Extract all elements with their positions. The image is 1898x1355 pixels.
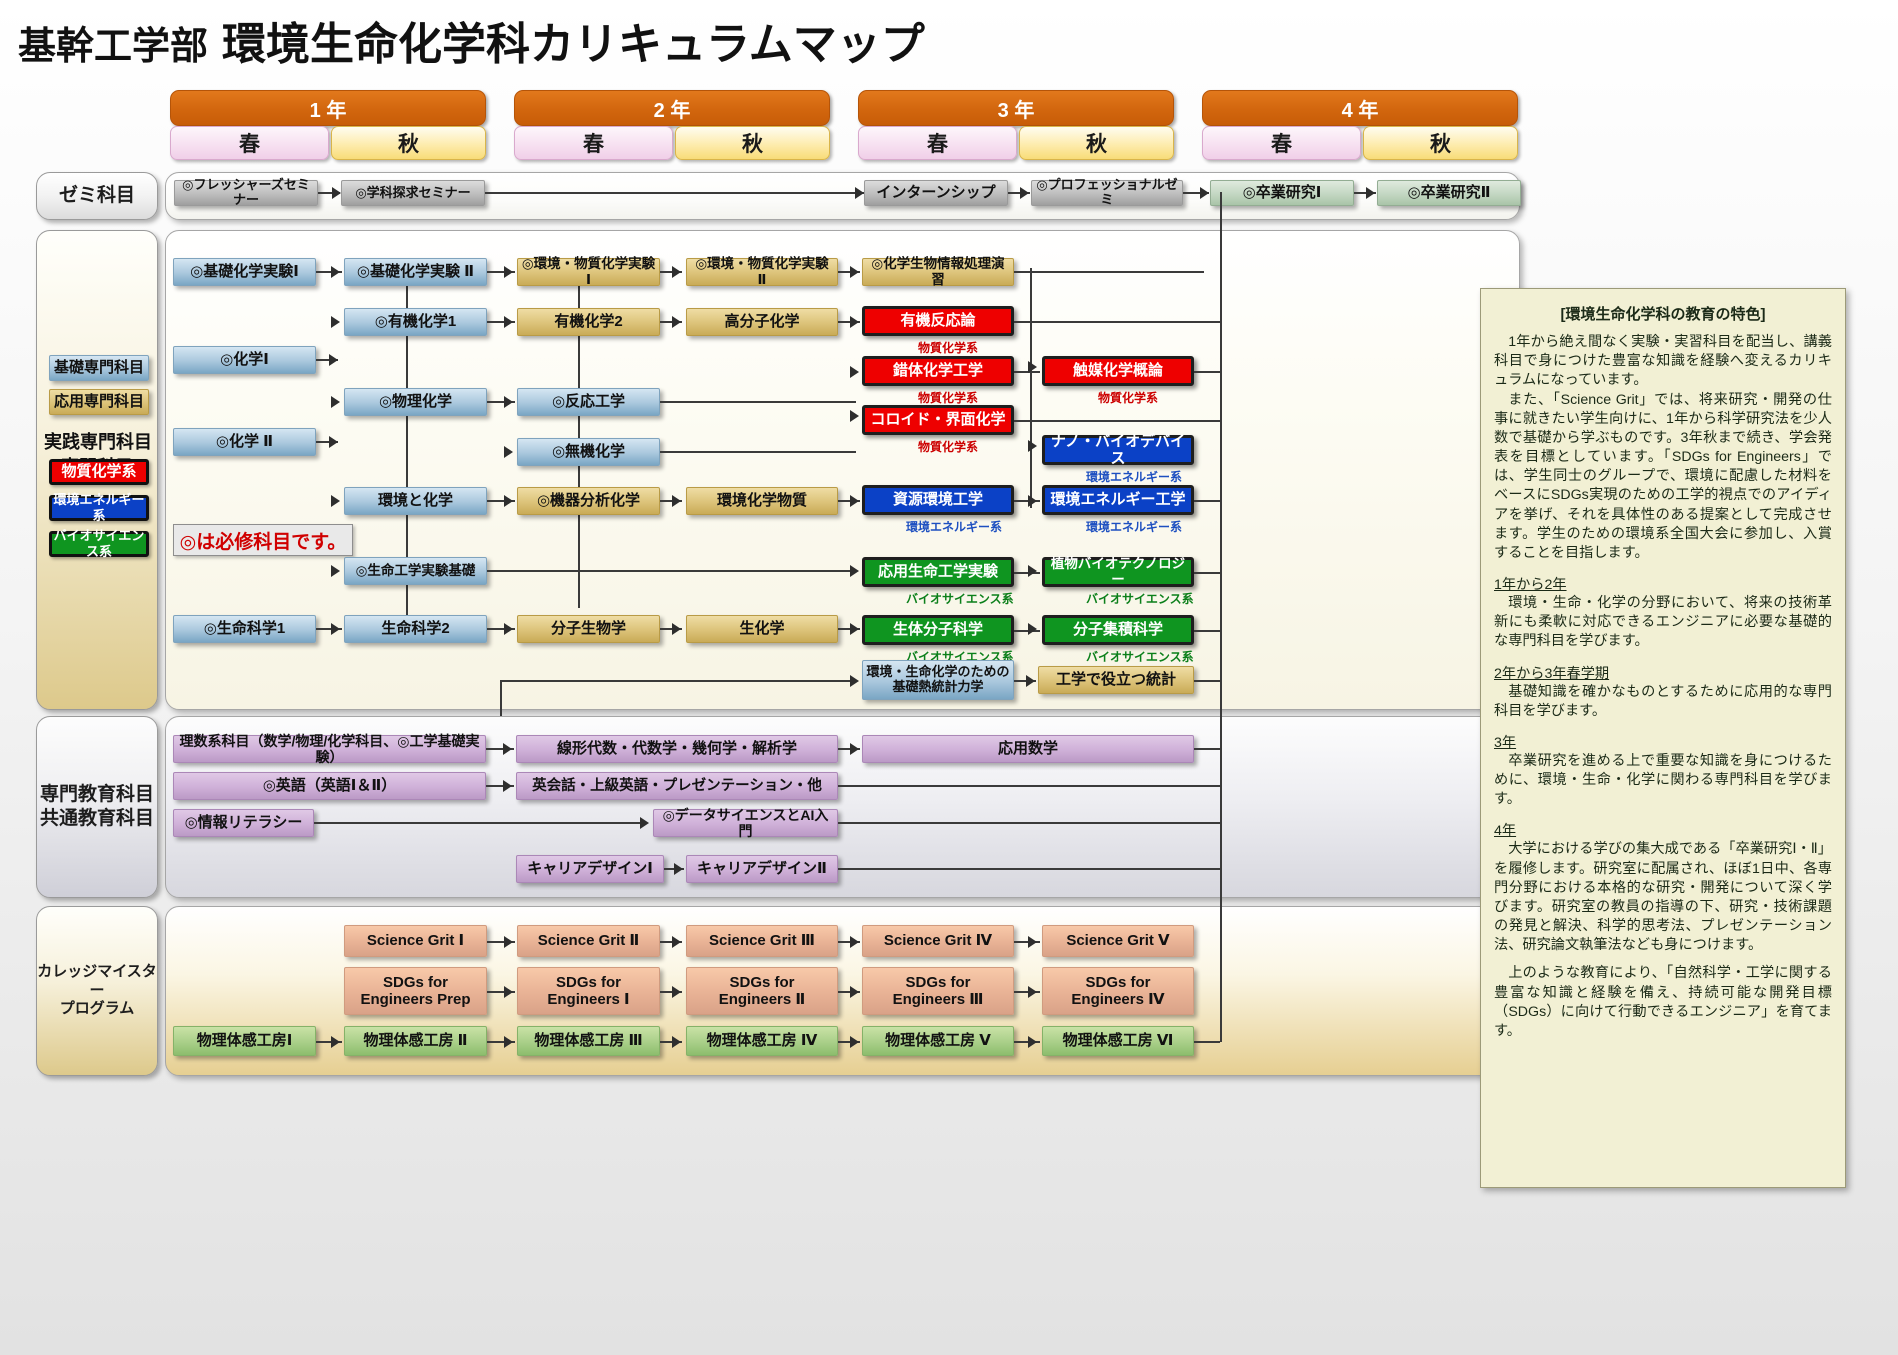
semester-1-spring: 春 bbox=[170, 126, 329, 160]
course-department-seminar[interactable]: ◎学科探求セミナー bbox=[341, 180, 485, 206]
course-env-chemical-substances[interactable]: 環境化学物質 bbox=[686, 487, 838, 515]
course-freshers-seminar[interactable]: ◎フレッシャーズセミナー bbox=[174, 180, 318, 206]
legend-chip-material-chemistry: 物質化学系 bbox=[49, 459, 149, 485]
info-heading-year1to2: 1年から2年 bbox=[1494, 574, 1832, 594]
category-common-line2: 共通教育科目 bbox=[40, 807, 154, 831]
page-title: 基幹工学部環境生命化学科カリキュラムマップ bbox=[18, 8, 925, 72]
education-features-panel: [環境生命化学科の教育の特色] 1年から絶え間なく実験・実習科目を配当し、講義科… bbox=[1480, 288, 1846, 1188]
course-physics-workshop-2[interactable]: 物理体感工房 Ⅱ bbox=[344, 1026, 487, 1056]
course-complex-chem-engineering[interactable]: 錯体化学工学 bbox=[862, 356, 1014, 386]
semester-4-spring: 春 bbox=[1202, 126, 1361, 160]
tag-environmental-energy-1: 環境エネルギー系 bbox=[1086, 468, 1182, 485]
course-nano-biodevice[interactable]: ナノ・バイオデバイス bbox=[1042, 435, 1194, 465]
course-physics-workshop-5[interactable]: 物理体感工房 Ⅴ bbox=[862, 1026, 1014, 1056]
course-polymer-chem[interactable]: 高分子化学 bbox=[686, 308, 838, 336]
course-molecular-assembly-science[interactable]: 分子集積科学 bbox=[1042, 615, 1194, 645]
course-life-engineering-exp-basics[interactable]: ◎生命工学実験基礎 bbox=[344, 557, 487, 585]
course-colloid-surface-chem[interactable]: コロイド・界面化学 bbox=[862, 405, 1014, 435]
semester-3-spring: 春 bbox=[858, 126, 1017, 160]
course-instrumental-analysis[interactable]: ◎機器分析化学 bbox=[517, 487, 660, 515]
course-english[interactable]: ◎英語（英語Ⅰ＆Ⅱ） bbox=[173, 772, 486, 800]
info-heading-year2to3: 2年から3年春学期 bbox=[1494, 663, 1832, 683]
course-english-conversation-presentation[interactable]: 英会話・上級英語・プレゼンテーション・他 bbox=[516, 772, 838, 800]
course-reaction-engineering[interactable]: ◎反応工学 bbox=[517, 388, 660, 416]
category-seminar: ゼミ科目 bbox=[36, 172, 158, 220]
course-applied-life-eng-exp[interactable]: 応用生命工学実験 bbox=[862, 557, 1014, 587]
course-resource-env-engineering[interactable]: 資源環境工学 bbox=[862, 485, 1014, 515]
tag-environmental-energy-3: 環境エネルギー系 bbox=[1086, 518, 1182, 535]
legend-basic-specialized: 基礎専門科目 bbox=[49, 355, 149, 381]
course-useful-statistics[interactable]: 工学で役立つ統計 bbox=[1038, 666, 1194, 694]
course-internship[interactable]: インターンシップ bbox=[864, 180, 1008, 206]
course-sdgs-3[interactable]: SDGs for Engineers Ⅲ bbox=[862, 967, 1014, 1015]
course-chemistry-1[interactable]: ◎化学Ⅰ bbox=[173, 346, 316, 374]
year-header-2: 2 年 bbox=[514, 90, 830, 126]
course-career-design-1[interactable]: キャリアデザインⅠ bbox=[516, 855, 664, 883]
semester-3-autumn: 秋 bbox=[1019, 126, 1174, 160]
info-body-year1to2: 環境・生命・化学の分野において、将来の技術革新にも柔軟に対応できるエンジニアに必… bbox=[1494, 594, 1832, 652]
course-data-science-ai-intro[interactable]: ◎データサイエンスとAI入門 bbox=[653, 809, 838, 837]
info-body-summary: 上のような教育により、「自然科学・工学に関する豊富な知識と経験を備え、持続可能な… bbox=[1494, 964, 1832, 1041]
course-sdgs-prep[interactable]: SDGs for Engineers Prep bbox=[344, 967, 487, 1015]
course-graduation-research-1[interactable]: ◎卒業研究Ⅰ bbox=[1210, 180, 1354, 206]
course-sdgs-4[interactable]: SDGs for Engineers Ⅳ bbox=[1042, 967, 1194, 1015]
course-env-energy-engineering[interactable]: 環境エネルギー工学 bbox=[1042, 485, 1194, 515]
legend-chip-environmental-energy: 環境エネルギー系 bbox=[49, 495, 149, 521]
course-science-grit-1[interactable]: Science Grit Ⅰ bbox=[344, 925, 487, 957]
course-sdgs-2[interactable]: SDGs for Engineers Ⅱ bbox=[686, 967, 838, 1015]
year-header-3: 3 年 bbox=[858, 90, 1174, 126]
course-basic-chem-exp-1[interactable]: ◎基礎化学実験Ⅰ bbox=[173, 258, 316, 286]
course-catalyst-chem-overview[interactable]: 触媒化学概論 bbox=[1042, 356, 1194, 386]
tag-bioscience-4: バイオサイエンス系 bbox=[1086, 648, 1194, 665]
info-body-year3: 卒業研究を進める上で重要な知識を身につけるために、環境・生命・化学に関わる専門科… bbox=[1494, 752, 1832, 810]
semester-2-spring: 春 bbox=[514, 126, 673, 160]
course-molecular-biology[interactable]: 分子生物学 bbox=[517, 615, 660, 643]
course-physics-workshop-3[interactable]: 物理体感工房 Ⅲ bbox=[517, 1026, 660, 1056]
tag-material-chemistry-1: 物質化学系 bbox=[918, 339, 978, 356]
info-paragraph-2: また、「Science Grit」では、将来研究・開発の仕事に就きたい学生向けに… bbox=[1494, 391, 1832, 564]
year-header-4: 4 年 bbox=[1202, 90, 1518, 126]
course-physics-workshop-4[interactable]: 物理体感工房 Ⅳ bbox=[686, 1026, 838, 1056]
year-header-1: 1 年 bbox=[170, 90, 486, 126]
course-env-material-chem-exp-2[interactable]: ◎環境・物質化学実験 Ⅱ bbox=[686, 258, 838, 286]
course-career-design-2[interactable]: キャリアデザインⅡ bbox=[686, 855, 838, 883]
course-physics-workshop-1[interactable]: 物理体感工房Ⅰ bbox=[173, 1026, 316, 1056]
course-env-material-chem-exp-1[interactable]: ◎環境・物質化学実験Ⅰ bbox=[517, 258, 660, 286]
tag-material-chemistry-2: 物質化学系 bbox=[918, 389, 978, 406]
course-linear-algebra-analysis[interactable]: 線形代数・代数学・幾何学・解析学 bbox=[516, 735, 838, 763]
course-science-math-subjects[interactable]: 理数系科目（数学/物理/化学科目、◎工学基礎実験） bbox=[173, 735, 486, 763]
semester-2-autumn: 秋 bbox=[675, 126, 830, 160]
info-paragraph-1: 1年から絶え間なく実験・実習科目を配当し、講義科目で身につけた豊富な知識を経験へ… bbox=[1494, 333, 1832, 391]
info-heading-year4: 4年 bbox=[1494, 820, 1832, 840]
course-graduation-research-2[interactable]: ◎卒業研究Ⅱ bbox=[1377, 180, 1521, 206]
faculty-name: 基幹工学部 bbox=[18, 26, 208, 68]
tag-material-chemistry-4: 物質化学系 bbox=[918, 438, 978, 455]
course-biomolecular-science[interactable]: 生体分子科学 bbox=[862, 615, 1014, 645]
course-environment-and-chemistry[interactable]: 環境と化学 bbox=[344, 487, 487, 515]
course-physics-workshop-6[interactable]: 物理体感工房 Ⅵ bbox=[1042, 1026, 1194, 1056]
course-professional-seminar[interactable]: ◎プロフェッショナルゼミ bbox=[1031, 180, 1183, 206]
course-biochemistry[interactable]: 生化学 bbox=[686, 615, 838, 643]
course-chem-bio-info-exercise[interactable]: ◎化学生物情報処理演習 bbox=[862, 258, 1014, 286]
map-title: 環境生命化学科カリキュラムマップ bbox=[222, 20, 925, 69]
course-inorganic-chem[interactable]: ◎無機化学 bbox=[517, 438, 660, 466]
course-physical-chem[interactable]: ◎物理化学 bbox=[344, 388, 487, 416]
info-heading-year3: 3年 bbox=[1494, 732, 1832, 752]
course-plant-biotechnology[interactable]: 植物バイオテクノロジー bbox=[1042, 557, 1194, 587]
course-life-science-2[interactable]: 生命科学2 bbox=[344, 615, 487, 643]
course-sdgs-1[interactable]: SDGs for Engineers Ⅰ bbox=[517, 967, 660, 1015]
category-meister-line2: プログラム bbox=[37, 1000, 157, 1019]
category-common-education: 専門教育科目 共通教育科目 bbox=[36, 716, 158, 898]
category-college-meister: カレッジマイスター プログラム bbox=[36, 906, 158, 1076]
course-life-science-1[interactable]: ◎生命科学1 bbox=[173, 615, 316, 643]
semester-4-autumn: 秋 bbox=[1363, 126, 1518, 160]
tag-material-chemistry-3: 物質化学系 bbox=[1098, 389, 1158, 406]
tag-environmental-energy-2: 環境エネルギー系 bbox=[906, 518, 1002, 535]
info-heading: [環境生命化学科の教育の特色] bbox=[1494, 303, 1832, 324]
required-course-note: ◎は必修科目です。 bbox=[173, 524, 353, 556]
legend-applied-specialized: 応用専門科目 bbox=[49, 389, 149, 415]
tag-bioscience-1: バイオサイエンス系 bbox=[906, 590, 1014, 607]
course-chemistry-2[interactable]: ◎化学 Ⅱ bbox=[173, 428, 316, 456]
course-organic-chem-1[interactable]: ◎有機化学1 bbox=[344, 308, 487, 336]
course-science-grit-2[interactable]: Science Grit Ⅱ bbox=[517, 925, 660, 957]
course-science-grit-3[interactable]: Science Grit Ⅲ bbox=[686, 925, 838, 957]
category-meister-line1: カレッジマイスター bbox=[37, 963, 157, 1001]
tag-bioscience-2: バイオサイエンス系 bbox=[1086, 590, 1194, 607]
course-organic-chem-2[interactable]: 有機化学2 bbox=[517, 308, 660, 336]
course-science-grit-5[interactable]: Science Grit Ⅴ bbox=[1042, 925, 1194, 957]
course-basic-chem-exp-2[interactable]: ◎基礎化学実験 Ⅱ bbox=[344, 258, 487, 286]
course-science-grit-4[interactable]: Science Grit Ⅳ bbox=[862, 925, 1014, 957]
category-common-line1: 専門教育科目 bbox=[40, 783, 154, 807]
info-body-year2to3: 基礎知識を確かなものとするために応用的な専門科目を学びます。 bbox=[1494, 683, 1832, 721]
legend-practical-title: 実践専門科目 bbox=[37, 431, 159, 454]
course-organic-reaction-theory[interactable]: 有機反応論 bbox=[862, 306, 1014, 336]
legend-chip-bioscience: バイオサイエンス系 bbox=[49, 531, 149, 557]
info-body-year4: 大学における学びの集大成である「卒業研究Ⅰ・Ⅱ」を履修します。研究室に配属され、… bbox=[1494, 840, 1832, 955]
category-specialized-panel: 専門科目 基礎専門科目 応用専門科目 実践専門科目 物質化学系 環境エネルギー系… bbox=[36, 230, 158, 710]
course-information-literacy[interactable]: ◎情報リテラシー bbox=[173, 809, 314, 837]
course-thermal-statistical-mechanics[interactable]: 環境・生命化学のための 基礎熱統計力学 bbox=[862, 660, 1014, 700]
semester-1-autumn: 秋 bbox=[331, 126, 486, 160]
course-applied-mathematics[interactable]: 応用数学 bbox=[862, 735, 1194, 763]
